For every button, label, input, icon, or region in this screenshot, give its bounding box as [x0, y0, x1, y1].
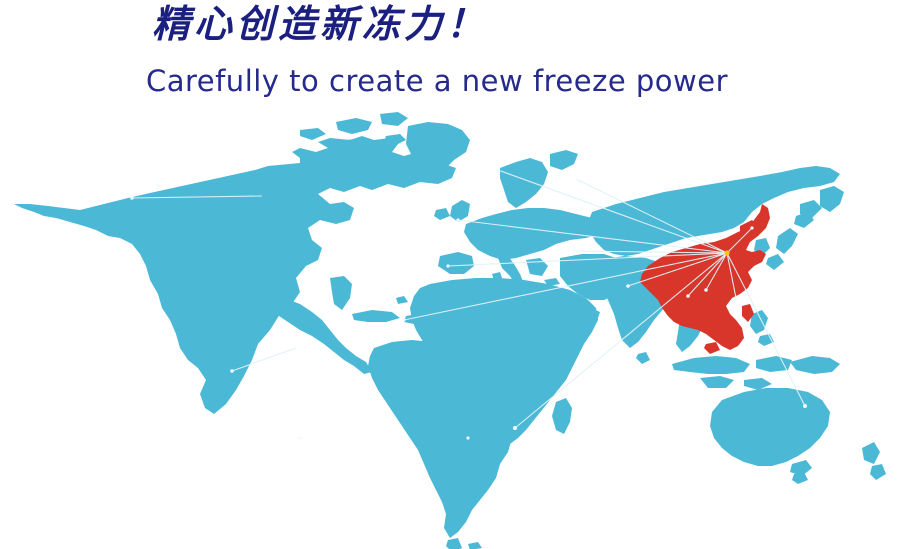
hub-marker	[724, 250, 729, 255]
world-map	[0, 108, 900, 549]
banner-stage: 精心创造新冻力！ Carefully to create a new freez…	[0, 0, 900, 549]
region-australia	[710, 356, 886, 484]
page-title-chinese: 精心创造新冻力！	[0, 2, 770, 46]
page-subtitle-english: Carefully to create a new freeze power	[0, 63, 887, 99]
